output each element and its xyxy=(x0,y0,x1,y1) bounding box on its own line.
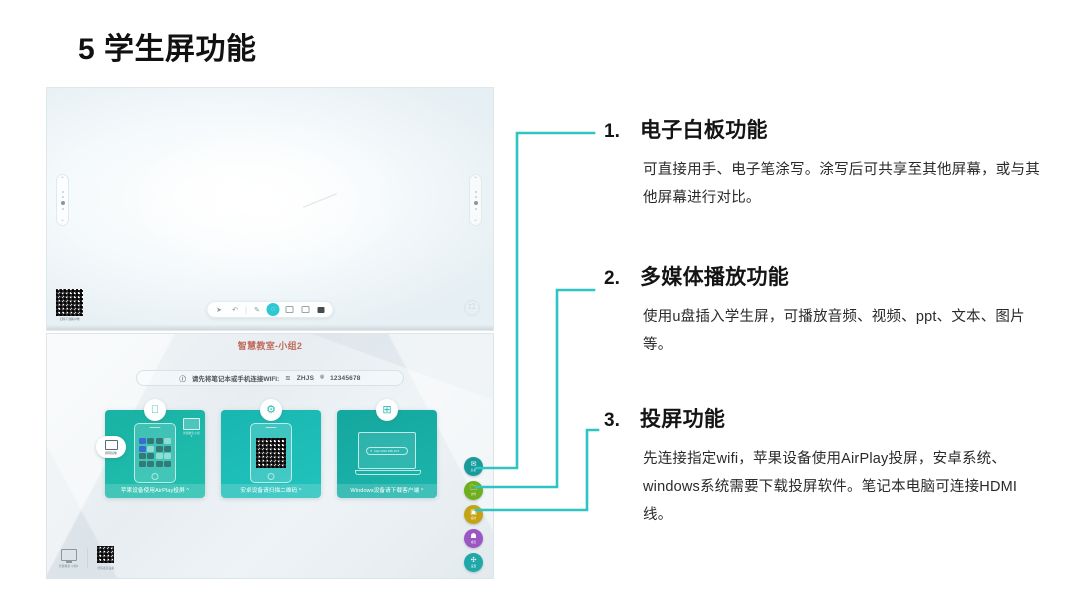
phone-home-button xyxy=(152,473,159,480)
undo-tool-icon[interactable]: ↶ xyxy=(229,303,242,316)
feature-item-2: 2. 多媒体播放功能 使用u盘插入学生屏，可播放音频、视频、ppt、文本、图片等… xyxy=(604,261,1040,359)
feature-2-head: 2. 多媒体播放功能 xyxy=(604,261,1040,291)
info-icon: ⓘ xyxy=(179,373,186,383)
wifi-icon: ≋ xyxy=(285,374,290,382)
android-icon: ⚙ xyxy=(260,399,282,421)
whiteboard-screenshot: ⌃ ⌄ ⌃ ⌄ ➤ ↶ ✎ ◌ ⛶ 扫码下载客户端 xyxy=(46,87,494,331)
cast-card-ios-label: 苹果设备使用AirPlay投屏 ^ xyxy=(105,484,205,498)
search-icon: ⌕ xyxy=(370,448,372,453)
connector-line-3 xyxy=(476,430,598,510)
phone-speaker xyxy=(150,427,161,428)
whiteboard-qr-block: 扫码下载客户端 xyxy=(56,289,83,321)
cast-card-android[interactable]: ⚙ 安卓设备请扫描二维码 ^ xyxy=(221,410,321,498)
whiteboard-toolbar[interactable]: ➤ ↶ ✎ ◌ xyxy=(207,301,334,318)
feature-2-number: 2. xyxy=(604,268,626,290)
laptop-lid: ⌕ http://192.168.10.5 xyxy=(358,432,416,469)
whiteboard-ink-stroke xyxy=(303,193,337,207)
feature-1-body: 可直接用手、电子笔涂写。涂写后可共享至其他屏幕，或与其他屏幕进行对比。 xyxy=(643,156,1040,212)
chevron-down-icon[interactable]: ⌄ xyxy=(473,217,478,223)
wifi-prompt-text: 请先将笔记本或手机连接WIFI: xyxy=(192,373,279,383)
rail-button-screen-label: 投屏 xyxy=(471,517,476,520)
tv-target-label: 智慧教室-小组2 xyxy=(183,431,200,438)
whiteboard-glow xyxy=(127,117,404,286)
chevron-down-icon[interactable]: ⌄ xyxy=(60,217,65,223)
phone-speaker xyxy=(266,427,277,428)
cast-rail: ✉ 信息 🗀 文件 ▣ 投屏 ☗ 成员 ✣ 设置 xyxy=(464,457,483,572)
cast-room-title: 智慧教室-小组2 xyxy=(47,339,493,352)
laptop-illustration: ⌕ http://192.168.10.5 xyxy=(355,432,419,475)
feature-3-number: 3. xyxy=(604,410,626,432)
cast-cards:  智慧教室-小组2 屏幕镜像 苹果设备使用AirPlay投屏 ^ xyxy=(105,410,437,498)
cast-footer-device: 智慧教室-小组2 xyxy=(59,549,78,568)
feature-3-title: 投屏功能 xyxy=(640,403,725,433)
apple-icon:  xyxy=(144,399,166,421)
pen-width-dots xyxy=(474,191,478,210)
chevron-up-icon[interactable]: ⌃ xyxy=(473,177,478,183)
rail-button-settings[interactable]: ✣ 设置 xyxy=(464,553,483,572)
toolbar-divider xyxy=(246,306,247,314)
feature-item-3: 3. 投屏功能 先连接指定wifi，苹果设备使用AirPlay投屏，安卓系统、w… xyxy=(604,403,1040,529)
feature-2-body: 使用u盘插入学生屏，可播放音频、视频、ppt、文本、图片等。 xyxy=(643,303,1040,359)
screen-mirroring-callout: 屏幕镜像 xyxy=(96,436,126,458)
download-url-text: http://192.168.10.5 xyxy=(374,449,399,453)
control-center-grid xyxy=(139,438,171,467)
footer-divider xyxy=(87,548,88,568)
feature-item-1: 1. 电子白板功能 可直接用手、电子笔涂写。涂写后可共享至其他屏幕，或与其他屏幕… xyxy=(604,114,1040,212)
monitor-icon: ▣ xyxy=(470,509,477,516)
whiteboard-qr-caption: 扫码下载客户端 xyxy=(56,317,83,321)
folder-icon: 🗀 xyxy=(470,485,477,492)
browser-url-bar: ⌕ http://192.168.10.5 xyxy=(366,447,408,455)
rail-button-user-label: 成员 xyxy=(471,541,476,544)
cast-card-windows-label: Windows设备请下载客户端 ^ xyxy=(337,484,437,498)
qr-code-icon xyxy=(56,289,83,316)
select-tool-icon[interactable] xyxy=(299,303,312,316)
lock-icon: ⌾ xyxy=(320,374,324,382)
cast-footer-device-label: 智慧教室-小组2 xyxy=(59,564,78,568)
rail-button-screen[interactable]: ▣ 投屏 xyxy=(464,505,483,524)
qr-code-icon xyxy=(256,438,286,468)
rail-button-message-label: 信息 xyxy=(471,469,476,472)
cast-card-android-label: 安卓设备请扫描二维码 ^ xyxy=(221,484,321,498)
monitor-icon xyxy=(61,549,77,561)
cast-footer-qr: 扫码连接设备 xyxy=(97,546,114,570)
cursor-tool-icon[interactable]: ➤ xyxy=(213,303,226,316)
qr-code-icon xyxy=(97,546,114,563)
fit-screen-icon[interactable]: ⛶ xyxy=(464,300,480,316)
wifi-info-bar: ⓘ 请先将笔记本或手机连接WIFI: ≋ ZHJS ⌾ 12345678 xyxy=(136,370,404,386)
feature-3-head: 3. 投屏功能 xyxy=(604,403,1040,433)
gear-icon: ✣ xyxy=(471,557,477,564)
windows-icon: ⊞ xyxy=(376,399,398,421)
cast-screenshot: 智慧教室-小组2 ⓘ 请先将笔记本或手机连接WIFI: ≋ ZHJS ⌾ 123… xyxy=(46,333,494,579)
rail-button-message[interactable]: ✉ 信息 xyxy=(464,457,483,476)
tv-target-illustration: 智慧教室-小组2 xyxy=(183,418,200,438)
rail-button-settings-label: 设置 xyxy=(471,565,476,568)
feature-2-title: 多媒体播放功能 xyxy=(640,261,789,291)
feature-1-title: 电子白板功能 xyxy=(640,114,768,144)
pen-tool-icon[interactable]: ✎ xyxy=(251,303,264,316)
phone-home-button xyxy=(268,473,275,480)
screen-mirroring-label: 屏幕镜像 xyxy=(105,451,117,455)
feature-1-head: 1. 电子白板功能 xyxy=(604,114,1040,144)
cast-card-windows[interactable]: ⊞ ⌕ http://192.168.10.5 Windows设备请下载客户端 … xyxy=(337,410,437,498)
rail-button-file[interactable]: 🗀 文件 xyxy=(464,481,483,500)
feature-3-body: 先连接指定wifi，苹果设备使用AirPlay投屏，安卓系统、windows系统… xyxy=(643,445,1040,529)
pen-width-dots xyxy=(61,191,65,210)
screen-mirror-icon xyxy=(105,440,118,450)
cast-footer-qr-caption: 扫码连接设备 xyxy=(97,566,114,570)
message-icon: ✉ xyxy=(471,461,477,468)
iphone-illustration xyxy=(134,423,176,483)
board-tool-icon[interactable] xyxy=(315,303,328,316)
wifi-ssid: ZHJS xyxy=(297,375,314,382)
cast-card-ios[interactable]:  智慧教室-小组2 屏幕镜像 苹果设备使用AirPlay投屏 ^ xyxy=(105,410,205,498)
feature-1-number: 1. xyxy=(604,121,626,143)
tv-screen-icon xyxy=(183,418,200,430)
chevron-up-icon[interactable]: ⌃ xyxy=(60,177,65,183)
laptop-base xyxy=(355,470,421,475)
user-icon: ☗ xyxy=(470,533,476,540)
shape-tool-icon[interactable] xyxy=(283,303,296,316)
eraser-tool-icon[interactable]: ◌ xyxy=(267,303,280,316)
pen-width-slider-left[interactable]: ⌃ ⌄ xyxy=(56,174,69,226)
cast-footer: 智慧教室-小组2 扫码连接设备 xyxy=(59,546,114,570)
rail-button-file-label: 文件 xyxy=(471,493,476,496)
pen-width-slider-right[interactable]: ⌃ ⌄ xyxy=(469,174,482,226)
android-phone-illustration xyxy=(250,423,292,483)
rail-button-user[interactable]: ☗ 成员 xyxy=(464,529,483,548)
page-title: 5 学生屏功能 xyxy=(78,24,257,68)
wifi-password: 12345678 xyxy=(330,375,361,382)
